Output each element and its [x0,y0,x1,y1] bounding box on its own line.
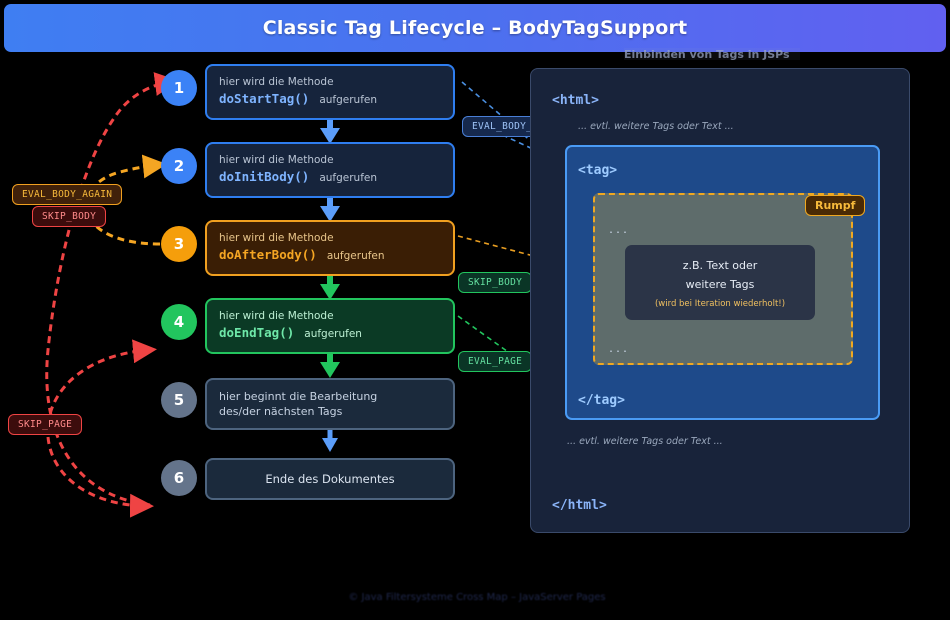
step-1-suffix: aufgerufen [319,94,377,106]
step-3-method: doAfterBody() [219,247,317,262]
page-header: Classic Tag Lifecycle – BodyTagSupport [4,4,946,52]
page-title: Classic Tag Lifecycle – BodyTagSupport [263,17,688,39]
step-box-next-tag[interactable]: hier beginnt die Bearbeitung des/der näc… [205,378,455,430]
step-1-line1: hier wird die Methode [219,75,441,90]
step-4-line1: hier wird die Methode [219,309,441,324]
inner-line-2: weitere Tags [686,275,755,294]
step-2-suffix: aufgerufen [319,172,377,184]
step-box-dostarttag[interactable]: hier wird die Methode doStartTag()aufger… [205,64,455,120]
step-badge-4: 4 [161,304,197,340]
badge-eval-body-again[interactable]: EVAL_BODY_AGAIN [12,184,122,205]
step-badge-3: 3 [161,226,197,262]
rumpf-dots-bottom: ... [608,344,629,355]
note-bottom: ... evtl. weitere Tags oder Text ... [567,436,723,447]
code-html-open: <html> [552,93,599,108]
inner-note: (wird bei Iteration wiederholt!) [655,299,785,309]
step-2-line1: hier wird die Methode [219,153,441,168]
step-badge-6: 6 [161,460,197,496]
step-6-label: Ende des Dokumentes [265,468,394,490]
step-4-suffix: aufgerufen [304,328,362,340]
rumpf-dots-top: ... [608,225,629,236]
step-5-line1: hier beginnt die Bearbeitung [219,389,441,404]
step-2-method: doInitBody() [219,169,309,184]
badge-eval-page[interactable]: EVAL_PAGE [458,351,532,372]
code-tag-close: </tag> [578,393,625,408]
footer-watermark: © Java Filtersysteme Cross Map – JavaSer… [342,592,612,606]
step-1-method: doStartTag() [219,91,309,106]
step-badge-1: 1 [161,70,197,106]
step-badge-5: 5 [161,382,197,418]
step-box-doafterbody[interactable]: hier wird die Methode doAfterBody()aufge… [205,220,455,276]
step-badge-2: 2 [161,148,197,184]
code-html-close: </html> [552,498,607,513]
step-5-line2: des/der nächsten Tags [219,404,441,419]
note-top: ... evtl. weitere Tags oder Text ... [578,121,734,132]
diagram-root: Classic Tag Lifecycle – BodyTagSupport E… [0,0,950,620]
badge-skip-body-mid[interactable]: SKIP_BODY [458,272,532,293]
step-3-line1: hier wird die Methode [219,231,441,246]
loop-skip-page-top [47,82,170,505]
code-tag-open: <tag> [578,163,617,178]
step-box-doendtag[interactable]: hier wird die Methode doEndTag()aufgeruf… [205,298,455,354]
badge-skip-page[interactable]: SKIP_PAGE [8,414,82,435]
inner-content-box: z.B. Text oder weitere Tags (wird bei It… [625,245,815,320]
step-4-method: doEndTag() [219,325,294,340]
subtitle-ghost: Einbinden von Tags in JSPs [624,48,800,60]
step-box-end-document[interactable]: Ende des Dokumentes [205,458,455,500]
inner-line-1: z.B. Text oder [683,256,758,275]
loop-skip-page-bottom [48,437,145,506]
step-box-doinitbody[interactable]: hier wird die Methode doInitBody()aufger… [205,142,455,198]
badge-skip-body-left[interactable]: SKIP_BODY [32,206,106,227]
step-3-suffix: aufgerufen [327,250,385,262]
rumpf-label: Rumpf [805,195,865,216]
